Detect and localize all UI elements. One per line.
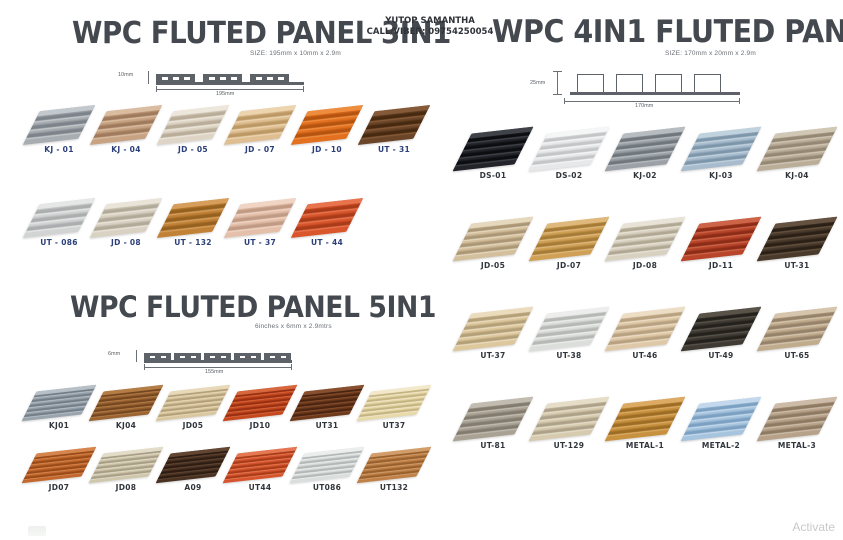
panel-swatch-image bbox=[157, 198, 230, 238]
panel-swatch-image bbox=[453, 127, 534, 172]
swatch-code-label: UT - 31 bbox=[363, 145, 425, 154]
panel-thumbnail bbox=[458, 130, 528, 168]
panel-thumbnail bbox=[458, 220, 528, 258]
profile-diagram-3in1: 10mm 195mm bbox=[118, 66, 333, 98]
swatch-cell[interactable]: UT37 bbox=[363, 388, 425, 430]
swatch-code-label: UT44 bbox=[229, 483, 291, 492]
panel-swatch-image bbox=[223, 447, 298, 484]
panel-thumbnail bbox=[95, 201, 157, 235]
diagram-height-label-3in1: 10mm bbox=[118, 72, 133, 78]
swatch-code-label: JD07 bbox=[28, 483, 90, 492]
diagram-width-label-4in1: 170mm bbox=[635, 103, 653, 109]
swatch-cell[interactable]: UT-65 bbox=[762, 310, 832, 360]
swatch-code-label: METAL-3 bbox=[762, 441, 832, 450]
panel-thumbnail bbox=[229, 388, 291, 418]
section-size-4in1: SIZE: 170mm x 20mm x 2.9m bbox=[665, 50, 756, 57]
swatch-code-label: UT - 132 bbox=[162, 238, 224, 247]
diagram-height-label-4in1: 25mm bbox=[530, 80, 545, 86]
panel-thumbnail bbox=[534, 400, 604, 438]
panel-swatch-image bbox=[224, 198, 297, 238]
panel-swatch-image bbox=[605, 217, 686, 262]
swatch-code-label: KJ - 04 bbox=[95, 145, 157, 154]
swatch-cell[interactable]: JD10 bbox=[229, 388, 291, 430]
swatch-code-label: UT-38 bbox=[534, 351, 604, 360]
panel-thumbnail bbox=[28, 388, 90, 418]
panel-thumbnail bbox=[458, 400, 528, 438]
swatch-cell[interactable]: UT-46 bbox=[610, 310, 680, 360]
panel-swatch-image bbox=[90, 105, 163, 145]
swatch-code-label: UT-129 bbox=[534, 441, 604, 450]
swatch-code-label: UT-49 bbox=[686, 351, 756, 360]
panel-swatch-image bbox=[22, 385, 97, 422]
swatch-cell[interactable]: JD05 bbox=[162, 388, 224, 430]
panel-swatch-image bbox=[291, 105, 364, 145]
swatch-code-label: METAL-1 bbox=[610, 441, 680, 450]
panel-swatch-image bbox=[358, 105, 431, 145]
swatch-code-label: DS-02 bbox=[534, 171, 604, 180]
panel-thumbnail bbox=[363, 108, 425, 142]
catalog-page: WPC FLUTED PANEL 3IN1 SIZE: 195mm x 10mm… bbox=[0, 0, 843, 540]
panel-thumbnail bbox=[686, 310, 756, 348]
swatch-cell[interactable]: UT086 bbox=[296, 450, 358, 492]
swatch-cell[interactable]: DS-02 bbox=[534, 130, 604, 180]
panel-thumbnail bbox=[363, 388, 425, 418]
panel-swatch-image bbox=[757, 127, 838, 172]
section-size-3in1: SIZE: 195mm x 10mm x 2.9m bbox=[250, 50, 341, 57]
swatch-cell[interactable]: KJ-04 bbox=[762, 130, 832, 180]
panel-thumbnail bbox=[363, 450, 425, 480]
panel-swatch-image bbox=[757, 397, 838, 442]
swatch-code-label: UT-81 bbox=[458, 441, 528, 450]
swatch-cell[interactable]: METAL-2 bbox=[686, 400, 756, 450]
swatch-cell[interactable]: UT - 086 bbox=[28, 201, 90, 247]
panel-swatch-image bbox=[357, 385, 432, 422]
panel-swatch-image bbox=[290, 385, 365, 422]
panel-swatch-image bbox=[529, 307, 610, 352]
panel-thumbnail bbox=[28, 108, 90, 142]
swatch-cell[interactable]: UT132 bbox=[363, 450, 425, 492]
swatch-cell[interactable]: UT - 31 bbox=[363, 108, 425, 154]
section-title-4in1: WPC 4IN1 FLUTED PANEL bbox=[492, 14, 843, 50]
swatch-cell[interactable]: KJ - 04 bbox=[95, 108, 157, 154]
panel-swatch-image bbox=[529, 397, 610, 442]
swatch-code-label: JD - 08 bbox=[95, 238, 157, 247]
panel-swatch-image bbox=[681, 307, 762, 352]
panel-thumbnail bbox=[762, 310, 832, 348]
panel-swatch-image bbox=[23, 105, 96, 145]
swatch-code-label: JD - 07 bbox=[229, 145, 291, 154]
swatch-cell[interactable]: METAL-3 bbox=[762, 400, 832, 450]
swatch-code-label: KJ-03 bbox=[686, 171, 756, 180]
swatch-cell[interactable]: A09 bbox=[162, 450, 224, 492]
panel-swatch-image bbox=[291, 198, 364, 238]
panel-swatch-image bbox=[681, 217, 762, 262]
swatch-code-label: A09 bbox=[162, 483, 224, 492]
panel-swatch-image bbox=[157, 105, 230, 145]
swatch-cell[interactable]: KJ04 bbox=[95, 388, 157, 430]
panel-swatch-image bbox=[605, 127, 686, 172]
panel-thumbnail bbox=[686, 130, 756, 168]
panel-thumbnail bbox=[296, 450, 358, 480]
panel-swatch-image bbox=[90, 198, 163, 238]
swatch-code-label: KJ01 bbox=[28, 421, 90, 430]
swatch-code-label: METAL-2 bbox=[686, 441, 756, 450]
swatch-cell[interactable]: JD - 10 bbox=[296, 108, 358, 154]
panel-swatch-image bbox=[224, 105, 297, 145]
swatch-cell[interactable]: UT-49 bbox=[686, 310, 756, 360]
panel-swatch-image bbox=[757, 217, 838, 262]
panel-thumbnail bbox=[610, 310, 680, 348]
panel-swatch-image bbox=[681, 127, 762, 172]
swatch-cell[interactable]: JD - 05 bbox=[162, 108, 224, 154]
swatch-cell[interactable]: UT - 44 bbox=[296, 201, 358, 247]
swatch-cell[interactable]: UT-129 bbox=[534, 400, 604, 450]
swatch-cell[interactable]: KJ-03 bbox=[686, 130, 756, 180]
contact-block: YUTOP SAMANTHA CALL/VIBER: 09754250054 bbox=[355, 16, 505, 38]
panel-thumbnail bbox=[28, 201, 90, 235]
panel-swatch-image bbox=[23, 198, 96, 238]
swatch-code-label: JD-11 bbox=[686, 261, 756, 270]
panel-swatch-image bbox=[156, 385, 231, 422]
panel-thumbnail bbox=[296, 388, 358, 418]
contact-phone: CALL/VIBER: 09754250054 bbox=[355, 27, 505, 38]
swatch-code-label: JD08 bbox=[95, 483, 157, 492]
panel-swatch-image bbox=[89, 447, 164, 484]
panel-thumbnail bbox=[95, 450, 157, 480]
panel-swatch-image bbox=[605, 397, 686, 442]
swatch-code-label: UT-65 bbox=[762, 351, 832, 360]
panel-thumbnail bbox=[229, 201, 291, 235]
panel-swatch-image bbox=[453, 397, 534, 442]
swatch-code-label: JD05 bbox=[162, 421, 224, 430]
swatch-code-label: UT086 bbox=[296, 483, 358, 492]
swatch-cell[interactable]: UT - 37 bbox=[229, 201, 291, 247]
panel-thumbnail bbox=[162, 108, 224, 142]
panel-swatch-image bbox=[453, 307, 534, 352]
panel-thumbnail bbox=[28, 450, 90, 480]
panel-swatch-image bbox=[223, 385, 298, 422]
swatch-code-label: UT37 bbox=[363, 421, 425, 430]
swatch-code-label: UT - 44 bbox=[296, 238, 358, 247]
panel-thumbnail bbox=[534, 130, 604, 168]
swatch-code-label: UT-46 bbox=[610, 351, 680, 360]
diagram-width-label-5in1: 155mm bbox=[205, 369, 223, 375]
swatch-cell[interactable]: UT-31 bbox=[762, 220, 832, 270]
contact-name: YUTOP SAMANTHA bbox=[355, 16, 505, 27]
swatch-cell[interactable]: JD-07 bbox=[534, 220, 604, 270]
panel-thumbnail bbox=[458, 310, 528, 348]
swatch-code-label: UT-37 bbox=[458, 351, 528, 360]
swatch-cell[interactable]: JD - 07 bbox=[229, 108, 291, 154]
swatch-code-label: JD-07 bbox=[534, 261, 604, 270]
panel-swatch-image bbox=[605, 307, 686, 352]
panel-thumbnail bbox=[686, 220, 756, 258]
panel-swatch-image bbox=[156, 447, 231, 484]
swatch-code-label: JD-05 bbox=[458, 261, 528, 270]
swatch-code-label: JD10 bbox=[229, 421, 291, 430]
panel-thumbnail bbox=[162, 201, 224, 235]
swatch-code-label: JD-08 bbox=[610, 261, 680, 270]
section-title-5in1: WPC FLUTED PANEL 5IN1 bbox=[70, 290, 436, 324]
swatch-code-label: UT - 086 bbox=[28, 238, 90, 247]
diagram-height-label-5in1: 6mm bbox=[108, 351, 120, 357]
panel-thumbnail bbox=[762, 220, 832, 258]
corner-artifact bbox=[28, 526, 46, 536]
swatch-code-label: KJ - 01 bbox=[28, 145, 90, 154]
swatch-cell[interactable]: JD-05 bbox=[458, 220, 528, 270]
swatch-code-label: UT132 bbox=[363, 483, 425, 492]
swatch-cell[interactable]: UT - 132 bbox=[162, 201, 224, 247]
panel-thumbnail bbox=[534, 220, 604, 258]
swatch-cell[interactable]: DS-01 bbox=[458, 130, 528, 180]
swatch-cell[interactable]: UT-81 bbox=[458, 400, 528, 450]
swatch-code-label: KJ-04 bbox=[762, 171, 832, 180]
panel-thumbnail bbox=[95, 108, 157, 142]
swatch-cell[interactable]: JD-08 bbox=[610, 220, 680, 270]
swatch-code-label: DS-01 bbox=[458, 171, 528, 180]
swatch-code-label: JD - 10 bbox=[296, 145, 358, 154]
swatch-cell[interactable]: UT-37 bbox=[458, 310, 528, 360]
panel-swatch-image bbox=[681, 397, 762, 442]
panel-swatch-image bbox=[22, 447, 97, 484]
panel-thumbnail bbox=[610, 130, 680, 168]
panel-thumbnail bbox=[610, 400, 680, 438]
swatch-cell[interactable]: JD08 bbox=[95, 450, 157, 492]
swatch-code-label: UT31 bbox=[296, 421, 358, 430]
swatch-cell[interactable]: KJ - 01 bbox=[28, 108, 90, 154]
profile-diagram-4in1: 25mm 170mm bbox=[530, 68, 755, 106]
panel-swatch-image bbox=[757, 307, 838, 352]
panel-thumbnail bbox=[534, 310, 604, 348]
swatch-cell[interactable]: JD-11 bbox=[686, 220, 756, 270]
panel-thumbnail bbox=[229, 108, 291, 142]
swatch-cell[interactable]: METAL-1 bbox=[610, 400, 680, 450]
panel-thumbnail bbox=[762, 130, 832, 168]
panel-thumbnail bbox=[762, 400, 832, 438]
panel-thumbnail bbox=[95, 388, 157, 418]
swatch-cell[interactable]: UT-38 bbox=[534, 310, 604, 360]
panel-swatch-image bbox=[357, 447, 432, 484]
swatch-code-label: KJ04 bbox=[95, 421, 157, 430]
diagram-width-label-3in1: 195mm bbox=[216, 91, 234, 97]
panel-thumbnail bbox=[610, 220, 680, 258]
swatch-cell[interactable]: UT31 bbox=[296, 388, 358, 430]
panel-thumbnail bbox=[686, 400, 756, 438]
swatch-cell[interactable]: UT44 bbox=[229, 450, 291, 492]
panel-thumbnail bbox=[296, 108, 358, 142]
swatch-code-label: UT-31 bbox=[762, 261, 832, 270]
panel-swatch-image bbox=[453, 217, 534, 262]
swatch-cell[interactable]: KJ-02 bbox=[610, 130, 680, 180]
panel-swatch-image bbox=[290, 447, 365, 484]
swatch-cell[interactable]: JD07 bbox=[28, 450, 90, 492]
panel-thumbnail bbox=[162, 388, 224, 418]
profile-diagram-5in1: 6mm 155mm bbox=[108, 345, 323, 377]
panel-thumbnail bbox=[162, 450, 224, 480]
panel-swatch-image bbox=[529, 127, 610, 172]
panel-swatch-image bbox=[529, 217, 610, 262]
panel-swatch-image bbox=[89, 385, 164, 422]
swatch-code-label: KJ-02 bbox=[610, 171, 680, 180]
swatch-cell[interactable]: JD - 08 bbox=[95, 201, 157, 247]
swatch-cell[interactable]: KJ01 bbox=[28, 388, 90, 430]
panel-thumbnail bbox=[296, 201, 358, 235]
panel-thumbnail bbox=[229, 450, 291, 480]
swatch-code-label: UT - 37 bbox=[229, 238, 291, 247]
activation-watermark: Activate bbox=[792, 520, 835, 534]
swatch-code-label: JD - 05 bbox=[162, 145, 224, 154]
section-size-5in1: 6inches x 6mm x 2.9mtrs bbox=[255, 323, 332, 330]
